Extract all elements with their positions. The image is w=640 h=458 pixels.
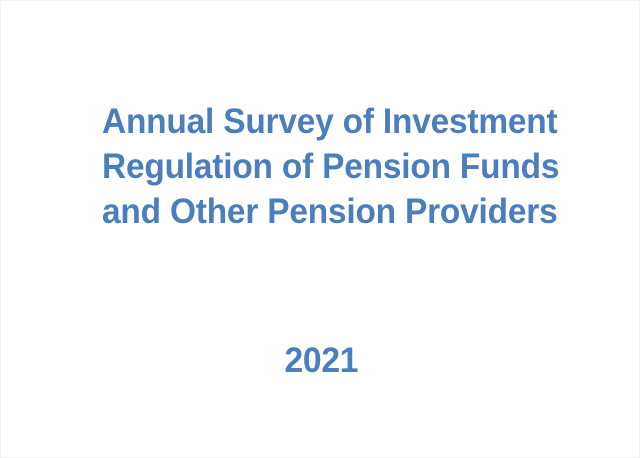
cover-page: Annual Survey of Investment Regulation o… (0, 0, 640, 458)
publication-year: 2021 (1, 341, 640, 381)
page-title: Annual Survey of Investment Regulation o… (102, 99, 572, 234)
publication-year-label: 2021 (284, 341, 358, 381)
title-line-1: Annual Survey of Investment (102, 99, 551, 144)
title-line-2: Regulation of Pension Funds (102, 144, 551, 189)
title-line-3: and Other Pension Providers (102, 189, 551, 234)
